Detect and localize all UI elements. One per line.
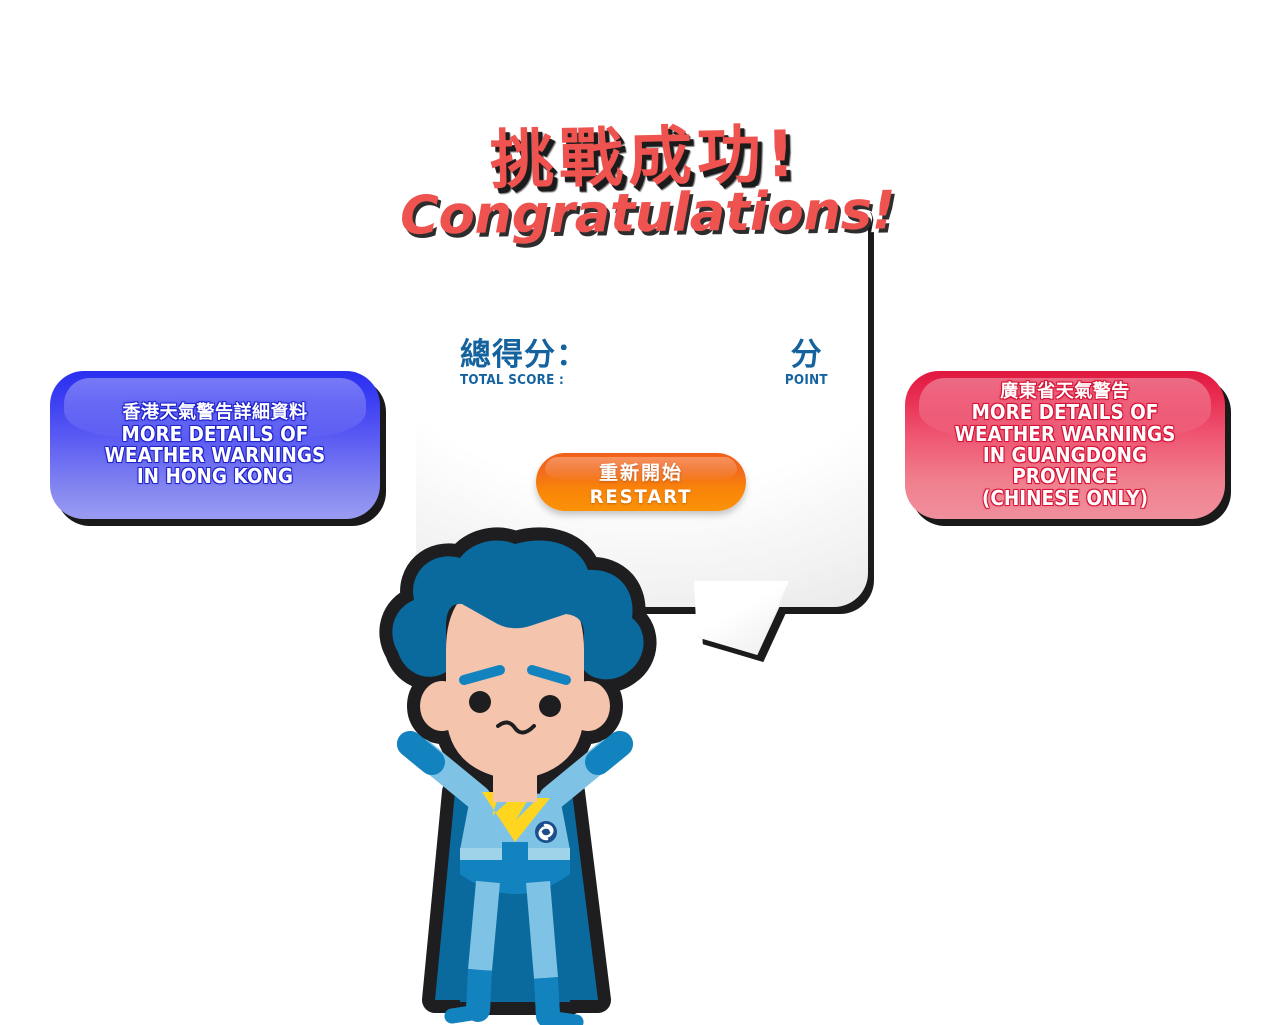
total-score-row: 總得分： TOTAL SCORE : 分 POINT [460,340,830,404]
more-details-hong-kong-button[interactable]: 香港天氣警告詳細資料 MORE DETAILS OF WEATHER WARNI… [50,371,380,519]
hk-button-label-cn: 香港天氣警告詳細資料 [95,402,335,424]
score-unit: 分 POINT [783,340,830,391]
restart-label-cn: 重新開始 [536,455,746,486]
gd-button-label-en-line4: (CHINESE ONLY) [927,488,1203,509]
mascot-character [360,530,700,1025]
hk-button-label-en-line1: MORE DETAILS OF [105,424,326,445]
restart-button[interactable]: 重新開始 RESTART [536,453,746,511]
gd-button-label-en-line2: WEATHER WARNINGS [927,424,1203,445]
cyclone-emblem-icon [535,821,557,843]
hk-button-label-en-line2: WEATHER WARNINGS [105,445,326,466]
total-score-label-en: TOTAL SCORE : [460,371,578,391]
total-score-label-cn: 總得分： [460,340,588,371]
hk-button-text: 香港天氣警告詳細資料 MORE DETAILS OF WEATHER WARNI… [85,402,345,488]
score-unit-en: POINT [785,371,828,391]
more-details-guangdong-button[interactable]: 廣東省天氣警告 MORE DETAILS OF WEATHER WARNINGS… [905,371,1225,519]
gd-button-label-en-line1: MORE DETAILS OF [927,402,1203,423]
gd-button-label-en-line3: IN GUANGDONG PROVINCE [927,445,1203,488]
hk-button-label-en-line3: IN HONG KONG [105,466,326,487]
gd-button-text: 廣東省天氣警告 MORE DETAILS OF WEATHER WARNINGS… [905,381,1225,510]
total-score-label: 總得分： TOTAL SCORE : [460,340,588,391]
speech-bubble-tail [694,581,790,655]
gd-button-label-cn: 廣東省天氣警告 [915,381,1215,403]
restart-label-en: RESTART [541,486,741,509]
score-unit-cn: 分 [783,340,830,371]
game-result-screen: 香港天氣警告詳細資料 MORE DETAILS OF WEATHER WARNI… [0,0,1281,1025]
